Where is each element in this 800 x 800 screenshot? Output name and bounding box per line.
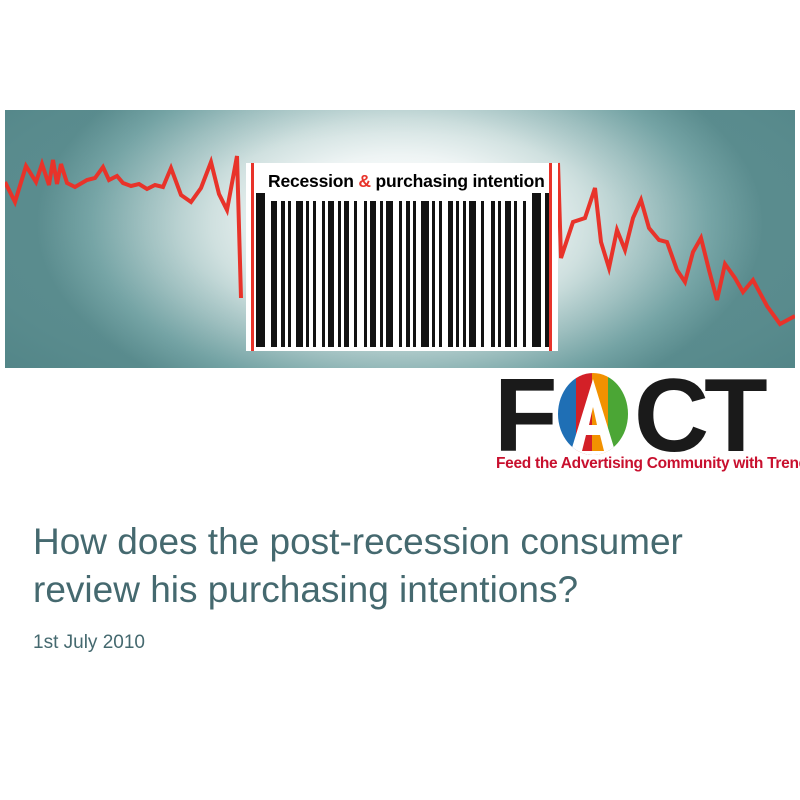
recession-banner: Recession & purchasing intention bbox=[5, 110, 795, 368]
barcode-bar bbox=[514, 201, 517, 347]
trend-line-left bbox=[5, 156, 241, 298]
barcode-bar bbox=[306, 201, 309, 347]
barcode-label: Recession & purchasing intention bbox=[268, 168, 538, 194]
fact-circle-a-icon bbox=[558, 373, 628, 455]
barcode-bar bbox=[498, 201, 501, 347]
barcode-bar bbox=[338, 201, 341, 347]
barcode-graphic: Recession & purchasing intention bbox=[246, 163, 558, 351]
barcode-bar bbox=[344, 201, 349, 347]
barcode-bar bbox=[448, 201, 453, 347]
barcode-bar bbox=[288, 201, 291, 347]
barcode-bars bbox=[246, 193, 558, 351]
barcode-bar bbox=[505, 201, 511, 347]
barcode-bar bbox=[463, 201, 466, 347]
barcode-label-suffix: purchasing intention bbox=[371, 171, 545, 191]
barcode-bar bbox=[456, 201, 459, 347]
barcode-bar bbox=[523, 201, 526, 347]
barcode-bar bbox=[364, 201, 367, 347]
barcode-bar bbox=[491, 201, 495, 347]
barcode-bar bbox=[406, 201, 410, 347]
fact-letter-f: F bbox=[494, 364, 554, 468]
page-title: How does the post-recession consumer rev… bbox=[33, 518, 763, 614]
barcode-bar bbox=[328, 201, 334, 347]
barcode-guard-bar bbox=[256, 193, 265, 347]
trend-line-right bbox=[558, 163, 795, 324]
barcode-bar bbox=[322, 201, 325, 347]
barcode-bar bbox=[370, 201, 376, 347]
title-block: How does the post-recession consumer rev… bbox=[33, 518, 763, 654]
barcode-bar bbox=[469, 201, 476, 347]
barcode-label-prefix: Recession bbox=[268, 171, 358, 191]
barcode-bar bbox=[296, 201, 303, 347]
barcode-bar bbox=[399, 201, 402, 347]
barcode-bar bbox=[439, 201, 442, 347]
fact-letters-ct: CT bbox=[634, 364, 763, 468]
barcode-red-edge-right bbox=[549, 163, 552, 351]
barcode-red-edge-left bbox=[251, 163, 254, 351]
fact-tagline: Feed the Advertising Community with Tren… bbox=[496, 455, 800, 473]
barcode-bar bbox=[386, 201, 393, 347]
barcode-guard-bar bbox=[532, 193, 541, 347]
barcode-bar bbox=[281, 201, 285, 347]
barcode-bar bbox=[432, 201, 435, 347]
barcode-bar bbox=[354, 201, 357, 347]
barcode-bar bbox=[481, 201, 484, 347]
barcode-bar bbox=[313, 201, 316, 347]
mark-wedge-blue bbox=[558, 373, 576, 455]
barcode-bar bbox=[421, 201, 429, 347]
page-date: 1st July 2010 bbox=[33, 632, 763, 654]
fact-wordmark: F CT bbox=[492, 368, 792, 456]
barcode-bar bbox=[380, 201, 383, 347]
fact-logo: F CT Feed the Advertising Community with… bbox=[492, 368, 792, 480]
barcode-bar bbox=[271, 201, 277, 347]
barcode-label-ampersand: & bbox=[358, 171, 370, 191]
barcode-bar bbox=[413, 201, 416, 347]
